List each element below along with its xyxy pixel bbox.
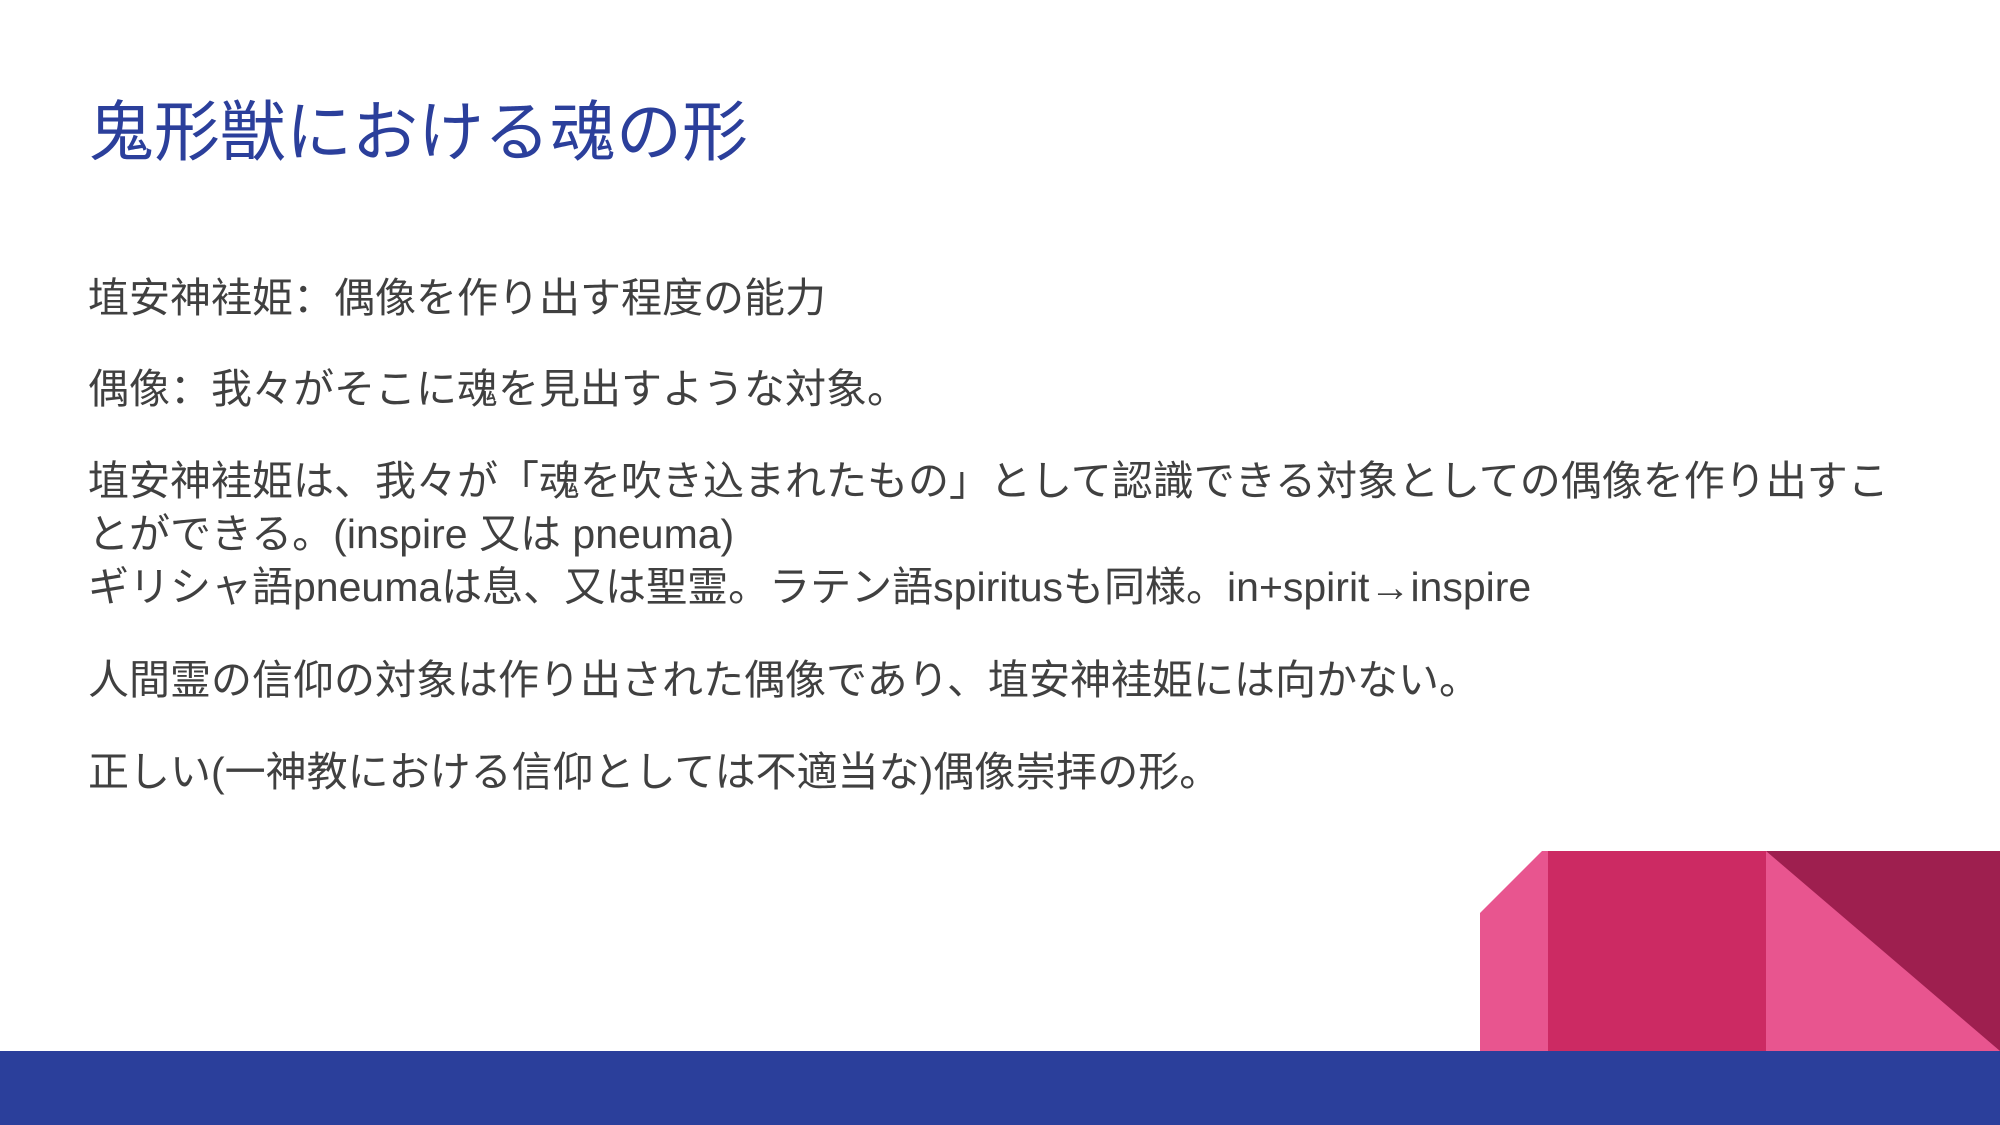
body-paragraph-2: 偶像：我々がそこに魂を見出すような対象。 (88, 363, 1898, 416)
page-title: 鬼形獣における魂の形 (88, 96, 1788, 169)
corner-decoration (1480, 851, 2000, 1051)
decoration-crimson-rectangle (1548, 851, 1766, 1051)
body-paragraph-3: 埴安神袿姫は、我々が「魂を吹き込まれたもの」として認識できる対象としての偶像を作… (88, 455, 1898, 615)
bottom-accent-bar (0, 1051, 2000, 1125)
slide-canvas: 鬼形獣における魂の形 埴安神袿姫：偶像を作り出す程度の能力 偶像：我々がそこに魂… (0, 0, 2000, 1125)
body-paragraph-4: 人間霊の信仰の対象は作り出された偶像であり、埴安神袿姫には向かない。 (88, 654, 1898, 707)
body-paragraph-5: 正しい(一神教における信仰としては不適当な)偶像崇拝の形。 (88, 746, 1898, 799)
body-paragraph-1: 埴安神袿姫：偶像を作り出す程度の能力 (88, 272, 1898, 325)
slide-body: 埴安神袿姫：偶像を作り出す程度の能力 偶像：我々がそこに魂を見出すような対象。 … (88, 272, 1898, 799)
